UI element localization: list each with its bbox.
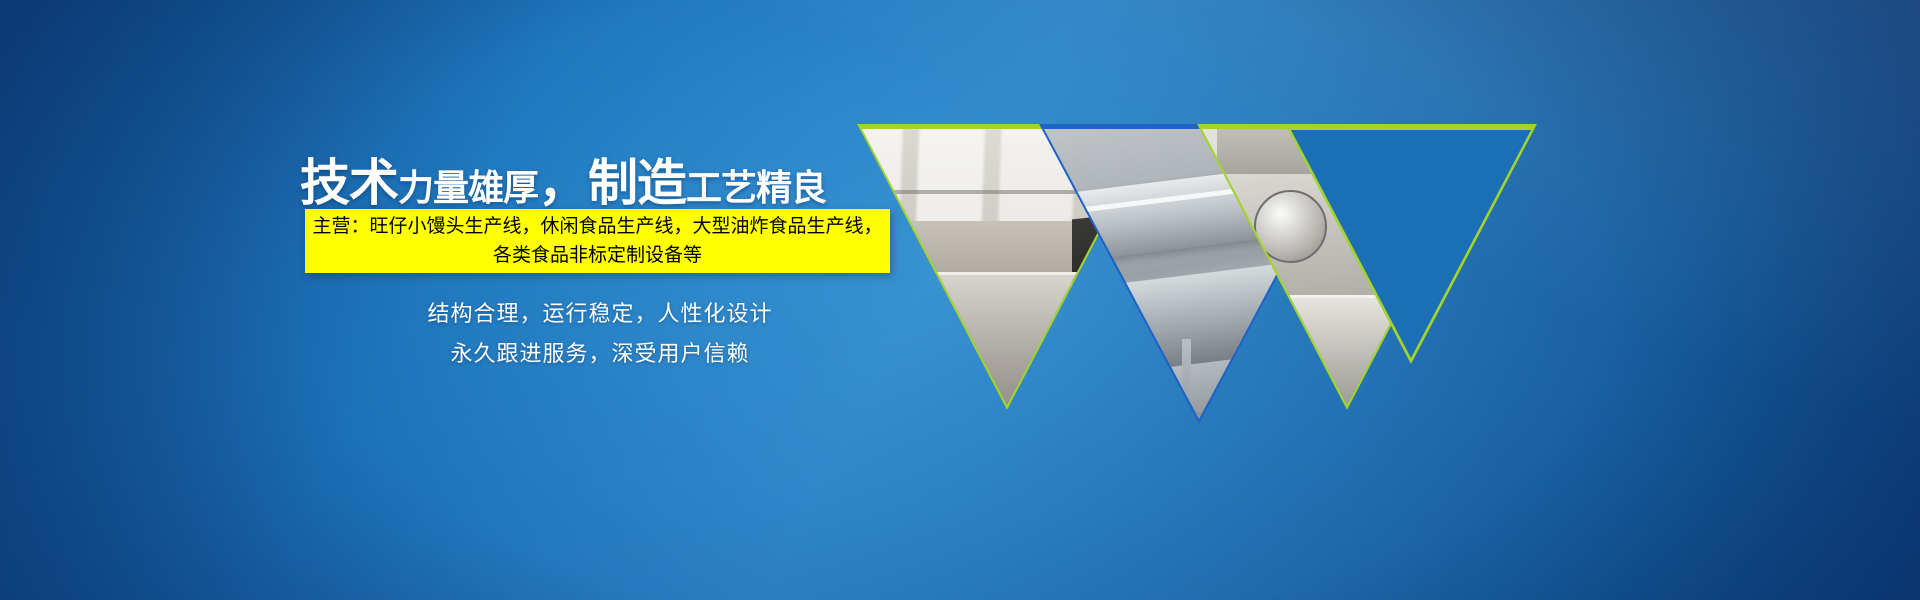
- promo-banner: 技术力量雄厚，制造工艺精良 主营：旺仔小馒头生产线，休闲食品生产线，大型油炸食品…: [0, 0, 1920, 600]
- banner-copy-block: 技术力量雄厚，制造工艺精良 主营：旺仔小馒头生产线，休闲食品生产线，大型油炸食品…: [0, 0, 900, 600]
- highlight-line-2: 各类食品非标定制设备等: [493, 241, 702, 270]
- headline-segment-3: 制造: [588, 155, 686, 211]
- headline-segment-4: 工艺精良: [686, 167, 826, 208]
- banner-subtitle-1: 结构合理，运行稳定，人性化设计: [300, 296, 900, 328]
- highlight-line-1: 主营：旺仔小馒头生产线，休闲食品生产线，大型油炸食品生产线，: [312, 212, 882, 241]
- headline-segment-1: 技术: [300, 155, 398, 211]
- highlight-box: 主营：旺仔小馒头生产线，休闲食品生产线，大型油炸食品生产线， 各类食品非标定制设…: [305, 209, 890, 273]
- triangle-photo-collage: [845, 110, 1525, 430]
- headline-comma: ，: [538, 155, 588, 211]
- headline-segment-2: 力量雄厚: [398, 167, 538, 208]
- banner-subtitle-2: 永久跟进服务，深受用户信赖: [300, 336, 900, 368]
- banner-headline: 技术力量雄厚，制造工艺精良: [300, 158, 900, 208]
